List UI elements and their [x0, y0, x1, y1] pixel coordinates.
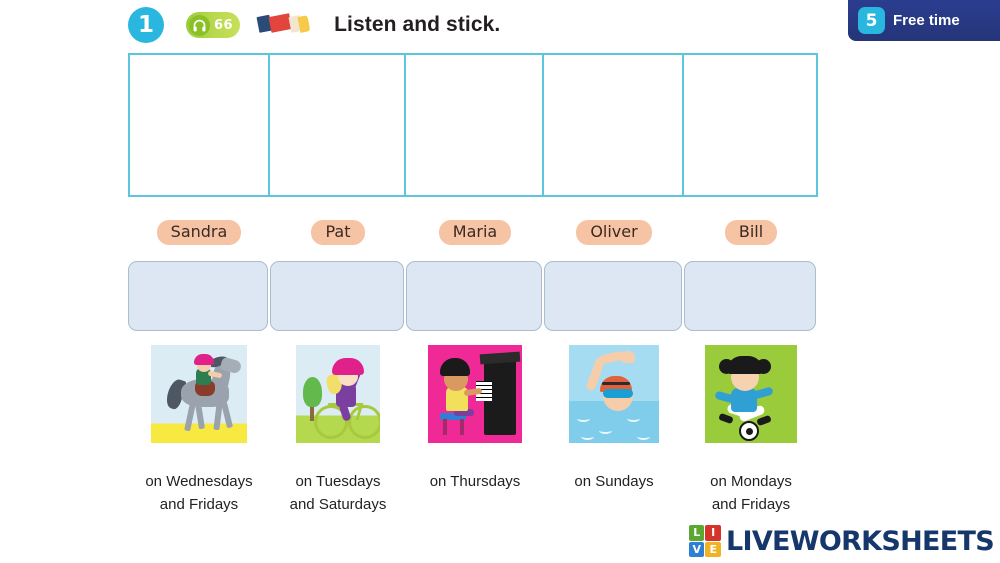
- caption-cell: on Sundays: [544, 470, 684, 517]
- sticker-cell[interactable]: [544, 53, 684, 197]
- logo-letter-e: E: [705, 542, 721, 558]
- piano-playing-image: [428, 345, 522, 443]
- sticker-cell[interactable]: [684, 53, 818, 197]
- unit-tab: 5 Free time: [848, 0, 1000, 41]
- audio-track-badge[interactable]: 66: [186, 12, 240, 38]
- activity-picture-cell: [128, 345, 270, 443]
- answer-drop-row: [128, 261, 818, 331]
- horse-riding-image: [151, 345, 247, 443]
- logo-letter-i: I: [705, 525, 721, 541]
- sticker-grid: [128, 53, 818, 197]
- name-cell: Maria: [406, 220, 544, 245]
- exercise-header: 1 66 Listen and stick.: [128, 4, 500, 46]
- eraser-icon: [258, 10, 312, 40]
- caption-swimming: on Sundays: [574, 470, 653, 517]
- swimming-image: [569, 345, 659, 443]
- caption-cell: on Tuesdays and Saturdays: [270, 470, 406, 517]
- sticker-cell[interactable]: [128, 53, 270, 197]
- name-cell: Sandra: [128, 220, 270, 245]
- activity-caption-row: on Wednesdays and Fridays on Tuesdays an…: [128, 470, 818, 517]
- name-label-pat: Pat: [311, 220, 364, 245]
- caption-soccer: on Mondays and Fridays: [710, 470, 792, 517]
- sticker-cell[interactable]: [270, 53, 406, 197]
- name-cell: Bill: [684, 220, 818, 245]
- sticker-cell[interactable]: [406, 53, 544, 197]
- drop-box-sandra[interactable]: [128, 261, 268, 331]
- drop-box-maria[interactable]: [406, 261, 542, 331]
- unit-title: Free time: [893, 12, 960, 29]
- caption-cycling: on Tuesdays and Saturdays: [290, 470, 387, 517]
- name-cell: Pat: [270, 220, 406, 245]
- caption-cell: on Wednesdays and Fridays: [128, 470, 270, 517]
- caption-cell: on Mondays and Fridays: [684, 470, 818, 517]
- name-label-oliver: Oliver: [576, 220, 651, 245]
- logo-letter-l: L: [689, 525, 705, 541]
- audio-track-number: 66: [214, 18, 233, 33]
- name-label-bill: Bill: [725, 220, 777, 245]
- activity-picture-row: [128, 345, 818, 443]
- name-label-row: Sandra Pat Maria Oliver Bill: [128, 220, 818, 245]
- unit-number: 5: [858, 7, 885, 34]
- name-label-sandra: Sandra: [157, 220, 242, 245]
- soccer-playing-image: [705, 345, 797, 443]
- name-label-maria: Maria: [439, 220, 511, 245]
- name-cell: Oliver: [544, 220, 684, 245]
- caption-cell: on Thursdays: [406, 470, 544, 517]
- activity-picture-cell: [544, 345, 684, 443]
- instruction-text: Listen and stick.: [334, 13, 500, 37]
- caption-horse-riding: on Wednesdays and Fridays: [145, 470, 252, 517]
- cycling-image: [296, 345, 380, 443]
- liveworksheets-logo-icon: L I V E: [689, 525, 721, 557]
- drop-box-bill[interactable]: [684, 261, 816, 331]
- logo-letter-v: V: [689, 542, 705, 558]
- drop-box-pat[interactable]: [270, 261, 404, 331]
- activity-picture-cell: [684, 345, 818, 443]
- activity-picture-cell: [270, 345, 406, 443]
- logo-wordmark: LIVEWORKSHEETS: [726, 526, 994, 557]
- caption-piano: on Thursdays: [430, 470, 521, 517]
- headphones-icon: [189, 15, 210, 36]
- exercise-number-badge: 1: [128, 7, 164, 43]
- liveworksheets-logo: L I V E LIVEWORKSHEETS: [689, 525, 994, 557]
- drop-box-oliver[interactable]: [544, 261, 682, 331]
- activity-picture-cell: [406, 345, 544, 443]
